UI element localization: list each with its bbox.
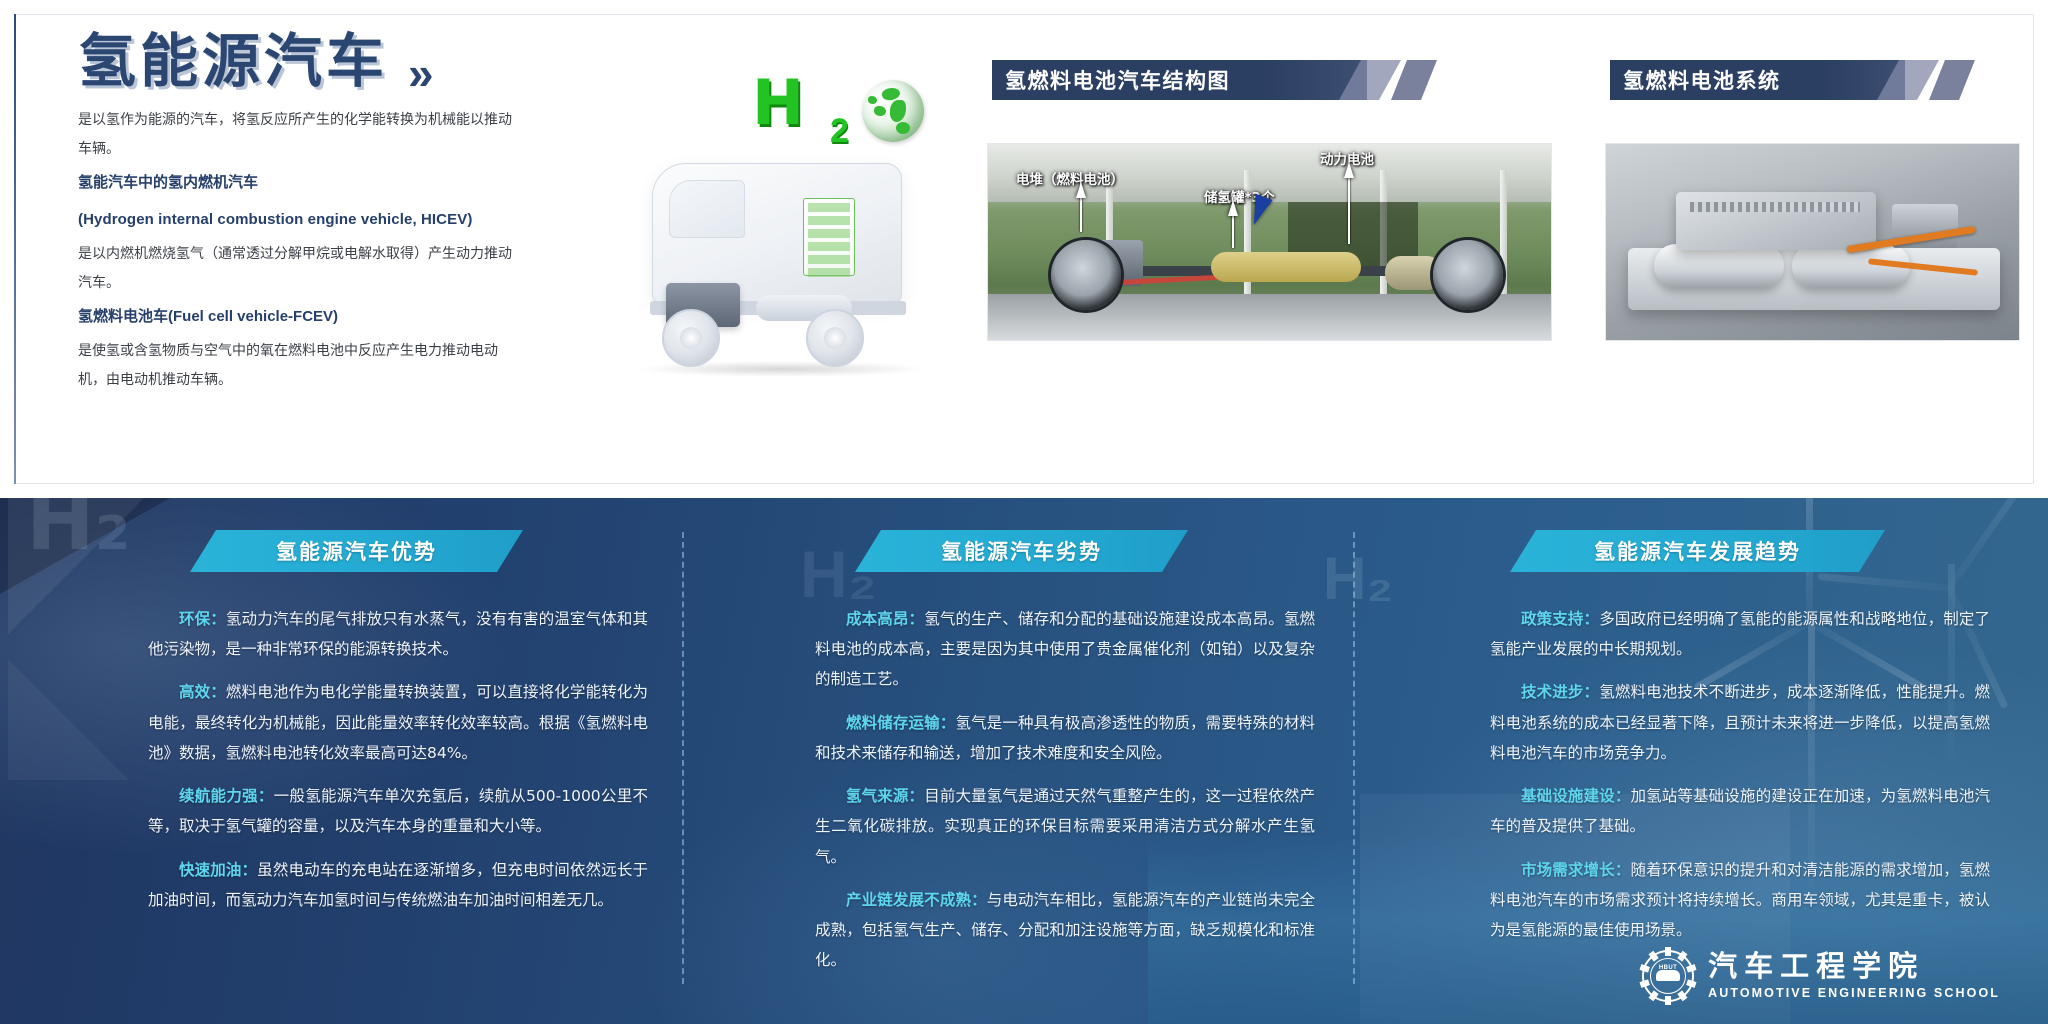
intro-body-fcev: 是使氢或含氢物质与空气中的氧在燃料电池中反应产生电力推动电动机，由电动机推动车辆… bbox=[78, 336, 518, 393]
list-item: 基础设施建设：加氢站等基础设施的建设正在加速，为氢燃料电池汽车的普及提供了基础。 bbox=[1490, 781, 1990, 841]
photo-fuel-cell-car-structure: 电堆（燃料电池） 储氢罐*3个 动力电池 bbox=[987, 143, 1552, 341]
item-keyword: 快速加油： bbox=[179, 861, 257, 879]
school-logo: HBUT 汽车工程学院 AUTOMOTIVE ENGINEERING SCHOO… bbox=[1642, 950, 2000, 1002]
top-white-section: 氢能源汽车 » 是以氢作为能源的汽车，将氢反应所产生的化学能转换为机械能以推动车… bbox=[0, 0, 2048, 498]
item-keyword: 市场需求增长： bbox=[1521, 861, 1630, 879]
list-item: 燃料储存运输：氢气是一种具有极高渗透性的物质，需要特殊的材料和技术来储存和输送，… bbox=[815, 708, 1315, 768]
item-keyword: 政策支持： bbox=[1521, 610, 1599, 628]
section-ribbon-trends: 氢能源汽车发展趋势 bbox=[1510, 530, 1885, 572]
h2o-letter-h: H bbox=[752, 72, 804, 134]
list-item: 高效：燃料电池作为电化学能量转换装置，可以直接将化学能转化为电能，最终转化为机械… bbox=[148, 677, 648, 768]
logo-text: 汽车工程学院 AUTOMOTIVE ENGINEERING SCHOOL bbox=[1708, 951, 2000, 1001]
panel-header-structure: 氢燃料电池汽车结构图 bbox=[987, 60, 1407, 100]
section-title-trends: 氢能源汽车发展趋势 bbox=[1510, 536, 1885, 566]
section-ribbon-advantages: 氢能源汽车优势 bbox=[190, 530, 523, 572]
h2o-logo: H 2 bbox=[752, 58, 922, 148]
list-item: 政策支持：多国政府已经明确了氢能的能源属性和战略地位，制定了氢能产业发展的中长期… bbox=[1490, 604, 1990, 664]
item-keyword: 续航能力强： bbox=[179, 787, 274, 805]
column-body-trends: 政策支持：多国政府已经明确了氢能的能源属性和战略地位，制定了氢能产业发展的中长期… bbox=[1490, 604, 1990, 958]
section-title-advantages: 氢能源汽车优势 bbox=[190, 536, 523, 566]
item-keyword: 环保： bbox=[179, 610, 226, 628]
chevron-right-icon: » bbox=[408, 46, 430, 100]
logo-abbr: HBUT bbox=[1642, 965, 1694, 971]
intro-body-hicev: 是以内燃机燃烧氢气（通常透过分解甲烷或电解水取得）产生动力推动汽车。 bbox=[78, 239, 518, 296]
intro-lead: 是以氢作为能源的汽车，将氢反应所产生的化学能转换为机械能以推动车辆。 bbox=[78, 105, 518, 162]
column-separator-2 bbox=[1353, 532, 1355, 984]
intro-subhead-hicev-en: (Hydrogen internal combustion engine veh… bbox=[78, 205, 518, 236]
list-item: 市场需求增长：随着环保意识的提升和对清洁能源的需求增加，氢燃料电池汽车的市场需求… bbox=[1490, 855, 1990, 946]
list-item: 产业链发展不成熟：与电动汽车相比，氢能源汽车的产业链尚未完全成熟，包括氢气生产、… bbox=[815, 885, 1315, 976]
item-keyword: 技术进步： bbox=[1521, 683, 1599, 701]
item-keyword: 高效： bbox=[179, 683, 226, 701]
hydrogen-truck-illustration bbox=[610, 145, 940, 385]
logo-name-cn: 汽车工程学院 bbox=[1708, 951, 2000, 983]
item-keyword: 产业链发展不成熟： bbox=[846, 891, 987, 909]
intro-subhead-fcev: 氢燃料电池车(Fuel cell vehicle-FCEV) bbox=[78, 302, 518, 333]
panel-header-system: 氢燃料电池系统 bbox=[1605, 60, 1945, 100]
bottom-blue-section: H₂ H₂ H₂ 氢能源汽车优势 环保：氢动力汽车的尾气排放只有水蒸气，没有有害… bbox=[0, 498, 2048, 1024]
column-body-advantages: 环保：氢动力汽车的尾气排放只有水蒸气，没有有害的温室气体和其他污染物，是一种非常… bbox=[148, 604, 648, 928]
photo-fuel-cell-system bbox=[1605, 143, 2020, 341]
panel-title-structure: 氢燃料电池汽车结构图 bbox=[987, 65, 1230, 95]
annotation-fuel-cell-stack: 电堆（燃料电池） bbox=[1016, 168, 1124, 188]
list-item: 快速加油：虽然电动车的充电站在逐渐增多，但充电时间依然远长于加油时间，而氢动力汽… bbox=[148, 855, 648, 915]
watermark-h2-left: H₂ bbox=[26, 498, 131, 569]
item-keyword: 成本高昂： bbox=[846, 610, 924, 628]
column-body-disadvantages: 成本高昂：氢气的生产、储存和分配的基础设施建设成本高昂。氢燃料电池的成本高，主要… bbox=[815, 604, 1315, 988]
item-keyword: 燃料储存运输： bbox=[846, 714, 955, 732]
section-ribbon-disadvantages: 氢能源汽车劣势 bbox=[855, 530, 1188, 572]
column-separator-1 bbox=[682, 532, 684, 984]
intro-text-block: 是以氢作为能源的汽车，将氢反应所产生的化学能转换为机械能以推动车辆。 氢能汽车中… bbox=[78, 105, 518, 396]
list-item: 环保：氢动力汽车的尾气排放只有水蒸气，没有有害的温室气体和其他污染物，是一种非常… bbox=[148, 604, 648, 664]
list-item: 氢气来源：目前大量氢气是通过天然气重整产生的，这一过程依然产生二氧化碳排放。实现… bbox=[815, 781, 1315, 872]
page-title: 氢能源汽车 bbox=[78, 32, 388, 90]
list-item: 续航能力强：一般氢能源汽车单次充氢后，续航从500-1000公里不等，取决于氢气… bbox=[148, 781, 648, 841]
list-item: 成本高昂：氢气的生产、储存和分配的基础设施建设成本高昂。氢燃料电池的成本高，主要… bbox=[815, 604, 1315, 695]
item-keyword: 氢气来源： bbox=[846, 787, 924, 805]
globe-icon bbox=[862, 80, 924, 142]
list-item: 技术进步：氢燃料电池技术不断进步，成本逐渐降低，性能提升。燃料电池系统的成本已经… bbox=[1490, 677, 1990, 768]
page-title-wrapper: 氢能源汽车 » bbox=[78, 32, 388, 90]
section-title-disadvantages: 氢能源汽车劣势 bbox=[855, 536, 1188, 566]
watermark-h2-right: H₂ bbox=[1323, 544, 1393, 613]
logo-name-en: AUTOMOTIVE ENGINEERING SCHOOL bbox=[1708, 987, 2000, 1001]
item-keyword: 基础设施建设： bbox=[1521, 787, 1630, 805]
panel-title-system: 氢燃料电池系统 bbox=[1605, 65, 1781, 95]
top-frame-accent bbox=[14, 14, 16, 484]
gear-icon: HBUT bbox=[1642, 950, 1694, 1002]
intro-subhead-hicev: 氢能汽车中的氢内燃机汽车 bbox=[78, 168, 518, 199]
